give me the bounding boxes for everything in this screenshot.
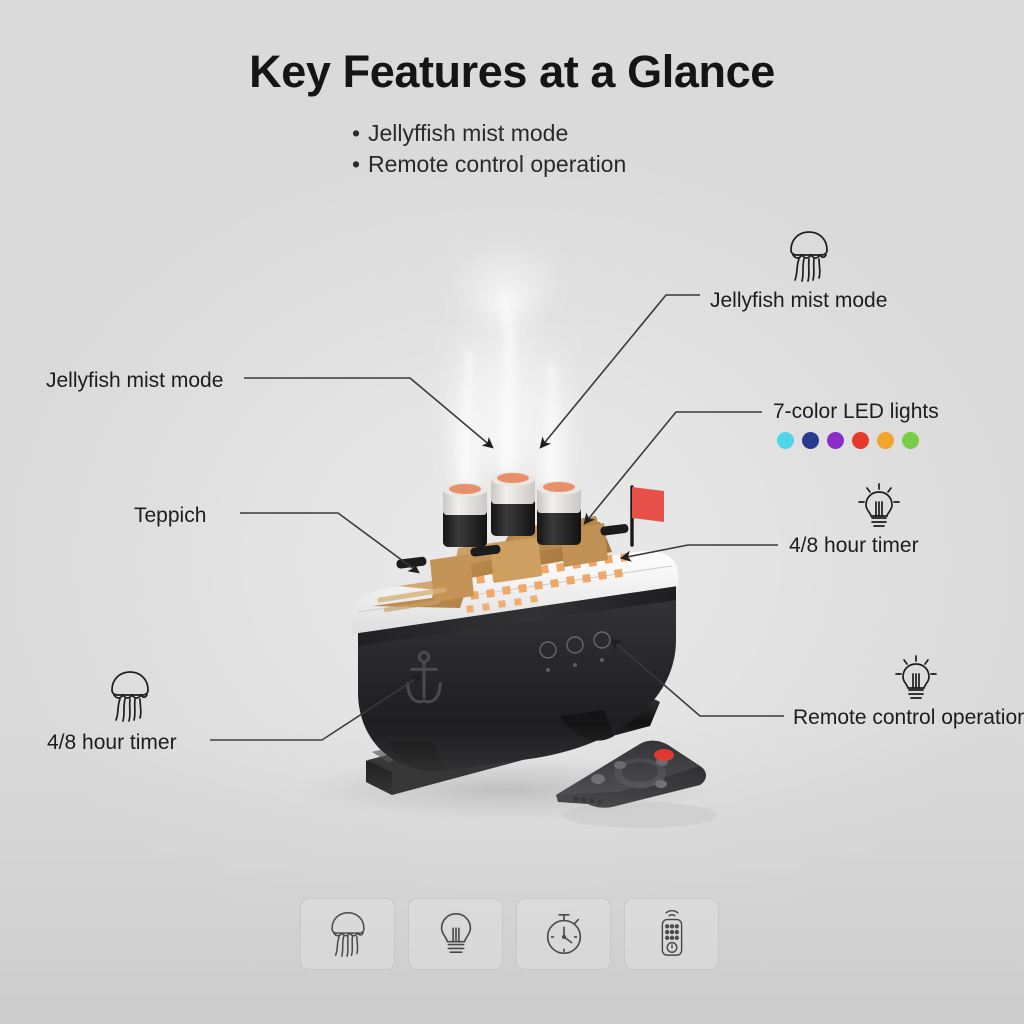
feature-bullet-list: •Jellyffish mist mode •Remote control op… [352,118,626,180]
jellyfish-icon [104,668,156,724]
led-swatch-red [852,432,869,449]
base-stand [366,668,660,795]
card-remote[interactable] [624,898,719,970]
infographic-canvas: Key Features at a Glance •Jellyffish mis… [0,0,1024,1024]
jellyfish-icon [325,909,371,959]
bullet-marker: • [352,118,368,149]
bullet-text: Jellyffish mist mode [368,120,568,146]
bullet-text: Remote control operation [368,151,626,177]
led-color-swatches [777,432,919,449]
leader-teppich [240,513,418,572]
ship-hull [358,555,676,771]
callout-label-jellyfish-right: Jellyfish mist mode [710,289,887,313]
page-title: Key Features at a Glance [0,46,1024,98]
bullet-item-0: •Jellyffish mist mode [352,118,626,149]
ship-railing [352,551,678,634]
leader-remote [612,640,784,716]
led-swatch-purple [827,432,844,449]
window-lights [466,553,629,613]
bullet-item-1: •Remote control operation [352,149,626,180]
callout-label-jellyfish-left: Jellyfish mist mode [46,369,223,393]
led-swatch-orange [877,432,894,449]
card-timer[interactable] [516,898,611,970]
ship-funnels [443,472,581,547]
callout-label-remote-right: Remote control operation [793,706,1024,730]
light-bulb-icon [436,910,476,958]
mist-streaks [465,300,553,482]
deck-fittings [396,524,629,569]
ship-deck [372,516,612,610]
stopwatch-icon [542,910,586,958]
led-swatch-blue [802,432,819,449]
card-light[interactable] [408,898,503,970]
anchor-icon [408,652,440,702]
light-bulb-icon [892,654,940,706]
floor-gradient [0,724,1024,1024]
bullet-marker: • [352,149,368,180]
leader-timer-right [622,545,778,558]
led-swatch-cyan [777,432,794,449]
funnel-1 [443,483,487,547]
leader-jellyfish-left [244,378,492,447]
leader-led [585,412,762,523]
callout-label-teppich: Teppich [134,504,206,528]
remote-icon [653,909,691,959]
card-jellyfish[interactable] [300,898,395,970]
remote-control [556,741,718,828]
funnel-2 [491,472,535,536]
leader-timer-left [210,676,420,740]
jellyfish-icon [783,228,835,284]
control-buttons [540,632,610,672]
funnel-3 [537,481,581,545]
light-bulb-icon [855,482,903,534]
callout-label-timer-right: 4/8 hour timer [789,534,919,558]
ship-flag [632,487,664,545]
led-swatch-green [902,432,919,449]
callout-label-timer-left: 4/8 hour timer [47,731,177,755]
callout-label-led-lights: 7-color LED lights [773,400,939,424]
product-shadow [290,758,720,822]
mist-plume-group [442,180,577,500]
leader-jellyfish-right [541,295,700,447]
feature-card-strip [300,898,719,970]
